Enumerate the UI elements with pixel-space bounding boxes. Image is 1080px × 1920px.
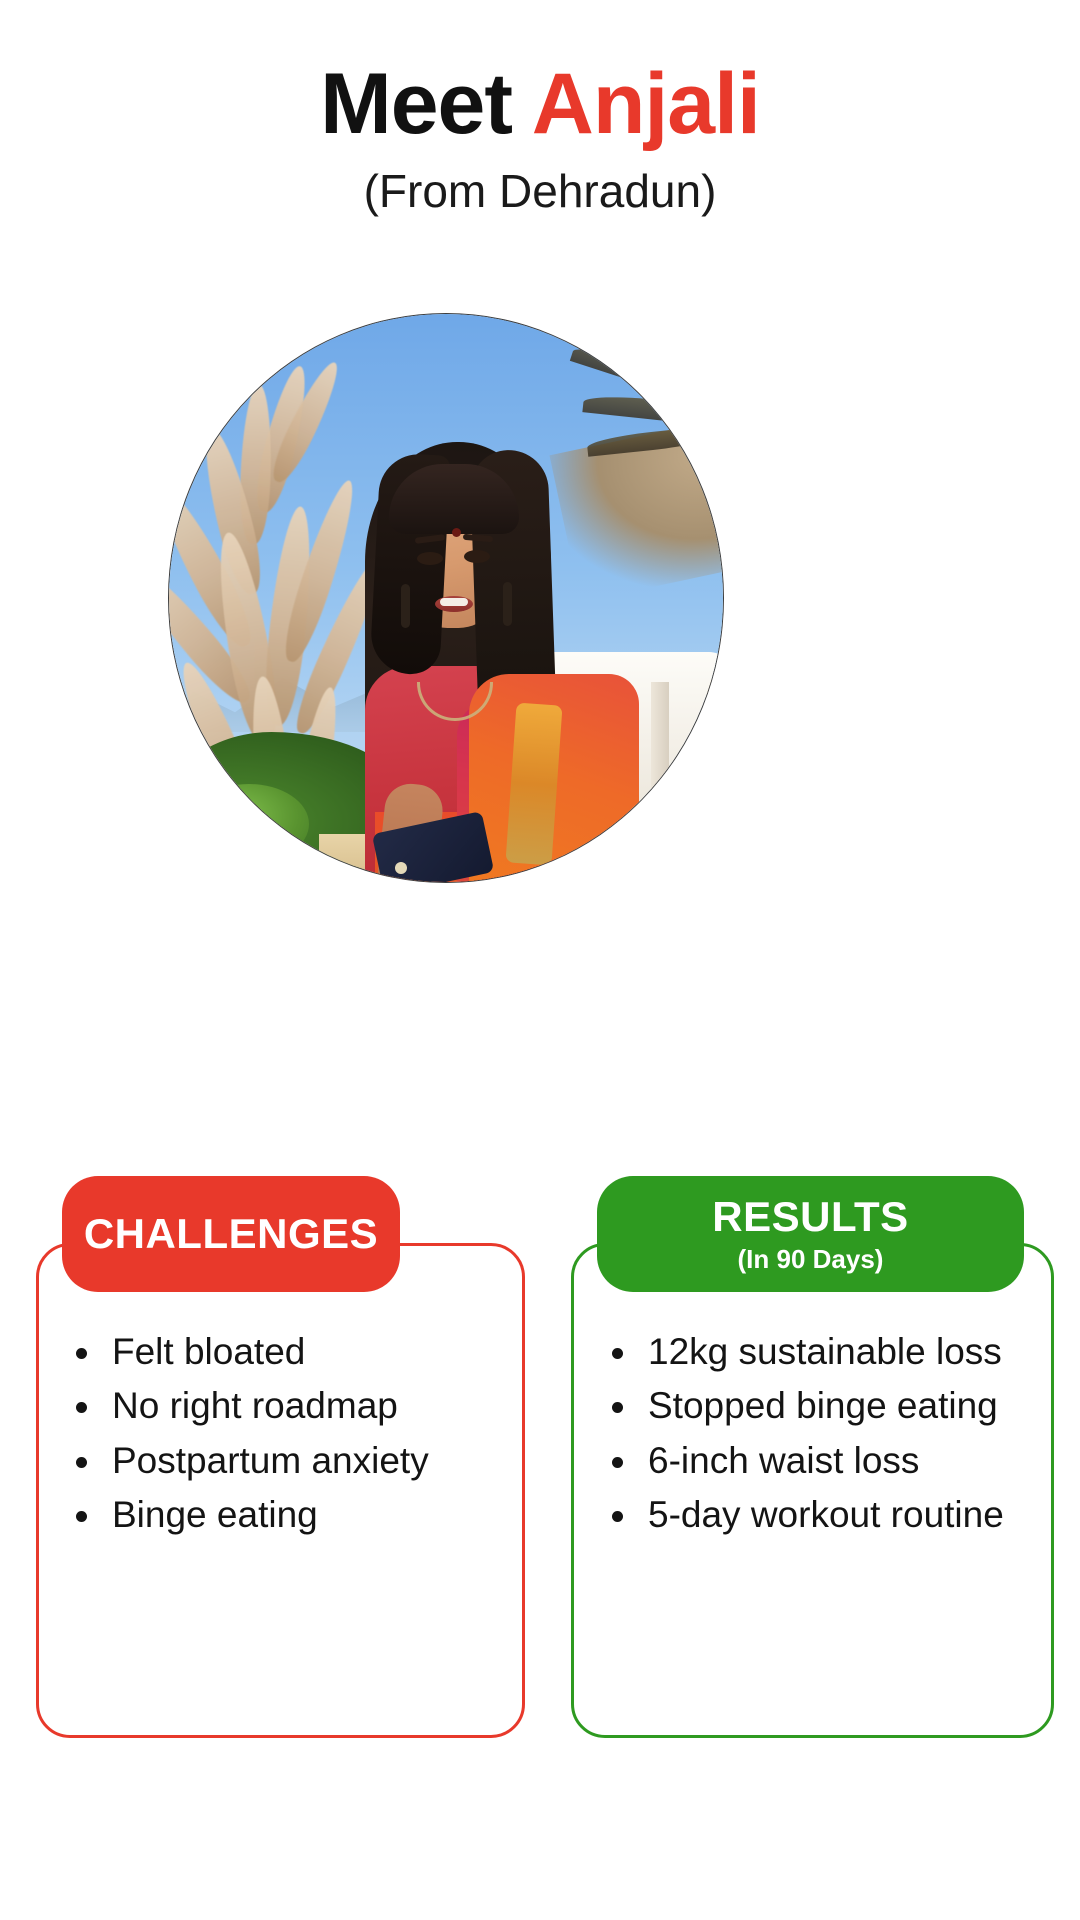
finger-ring (395, 862, 407, 874)
bindi (452, 528, 461, 537)
results-subtitle: (In 90 Days) (738, 1246, 884, 1272)
results-title: RESULTS (712, 1196, 908, 1238)
earring-left (401, 584, 410, 628)
list-item: Postpartum anxiety (60, 1437, 500, 1484)
list-item: Stopped binge eating (596, 1382, 1048, 1429)
challenges-header: CHALLENGES (62, 1176, 400, 1292)
results-header: RESULTS (In 90 Days) (597, 1176, 1024, 1292)
challenges-title: CHALLENGES (84, 1213, 378, 1255)
teeth (440, 598, 468, 606)
list-item: 12kg sustainable loss (596, 1328, 1048, 1375)
list-item: 6-inch waist loss (596, 1437, 1048, 1484)
eye-right (464, 550, 490, 563)
list-item: Felt bloated (60, 1328, 500, 1375)
list-item: No right roadmap (60, 1382, 500, 1429)
results-list: 12kg sustainable loss Stopped binge eati… (596, 1328, 1048, 1545)
eye-left (417, 552, 443, 565)
challenges-list: Felt bloated No right roadmap Postpartum… (60, 1328, 500, 1545)
earring-right (503, 582, 512, 626)
list-item: 5-day workout routine (596, 1491, 1048, 1538)
list-item: Binge eating (60, 1491, 500, 1538)
comparison-cards: CHALLENGES Felt bloated No right roadmap… (0, 0, 1080, 1920)
